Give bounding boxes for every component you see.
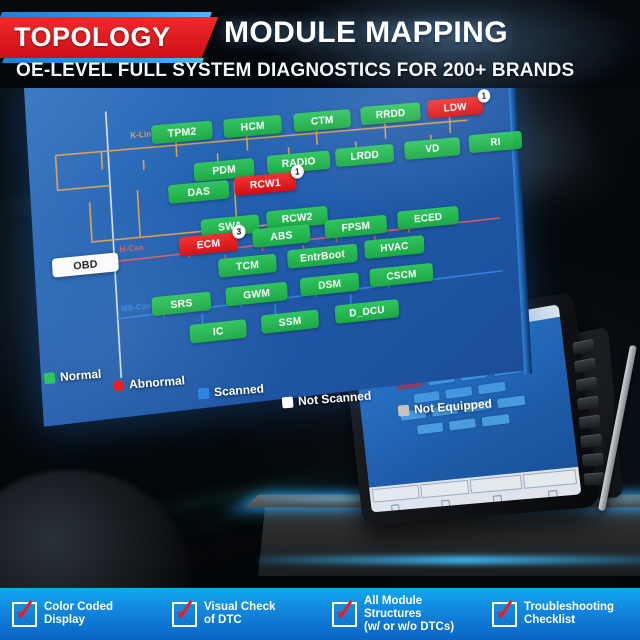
node-label: LDW <box>443 101 466 114</box>
node-label: OBD <box>73 258 98 272</box>
node-label: HCM <box>240 120 265 134</box>
promo-graphic: TOPOLOGY MODULE MAPPING OE-LEVEL FULL SY… <box>0 0 640 640</box>
feature-item-visual-check-of-dtc: Visual Check of DTC <box>160 601 320 627</box>
node-label: IC <box>213 325 224 338</box>
header-badge-label: TOPOLOGY <box>14 19 214 55</box>
node-label: FPSM <box>341 220 370 234</box>
feature-label-line2: Checklist <box>524 614 614 627</box>
node-label: LRDD <box>350 148 379 162</box>
page-subtitle: OE-LEVEL FULL SYSTEM DIAGNOSTICS FOR 200… <box>16 60 574 82</box>
feature-label-line2: Display <box>44 614 113 627</box>
node-label: ABS <box>270 229 293 243</box>
node-label: RRDD <box>375 107 405 121</box>
legend-swatch-not-scanned-icon <box>282 396 294 408</box>
node-label: SRS <box>170 297 193 311</box>
feature-label-line1: Color Coded <box>44 601 113 614</box>
checkmark-icon <box>172 602 197 627</box>
feature-item-troubleshooting-checklist: Troubleshooting Checklist <box>480 601 640 627</box>
node-label: HVAC <box>380 240 409 254</box>
node-label: RCW1 <box>250 177 282 191</box>
node-label: TPM2 <box>167 125 196 139</box>
feature-label-line1: Visual Check <box>204 601 275 614</box>
node-label: ECM <box>196 237 220 251</box>
node-label: DSM <box>318 278 342 292</box>
feature-item-color-coded-display: Color Coded Display <box>0 601 160 627</box>
checkmark-icon <box>12 602 37 627</box>
node-label: GWM <box>243 287 270 301</box>
node-label: D_DCU <box>349 304 385 319</box>
node-label: PDM <box>212 163 236 177</box>
header-banner: TOPOLOGY MODULE MAPPING OE-LEVEL FULL SY… <box>0 0 640 88</box>
feature-item-all-module-structures: All Module Structures (w/ or w/o DTCs) <box>320 595 480 634</box>
legend-swatch-scanned-icon <box>198 387 210 399</box>
node-label: CSCM <box>386 268 417 283</box>
legend-swatch-not-equipped-icon <box>398 404 410 416</box>
feature-label-line2: (w/ or w/o DTCs) <box>364 621 480 634</box>
feature-label-line1: All Module Structures <box>364 595 480 621</box>
feature-label-line1: Troubleshooting <box>524 601 614 614</box>
node-label: VD <box>425 142 440 155</box>
node-label: CTM <box>311 114 334 127</box>
node-label: DAS <box>187 185 210 199</box>
checkmark-icon <box>332 602 357 627</box>
legend-swatch-abnormal-icon <box>113 379 125 391</box>
page-title: MODULE MAPPING <box>224 16 508 50</box>
node-label: RI <box>490 136 501 148</box>
node-label: ECED <box>414 211 443 225</box>
node-label: EntrBoot <box>300 248 345 264</box>
pedestal-glow <box>258 556 640 564</box>
feature-label-line2: of DTC <box>204 614 275 627</box>
node-label: RCW2 <box>281 211 312 226</box>
legend-swatch-normal-icon <box>44 372 56 384</box>
checkmark-icon <box>492 602 517 627</box>
node-label: TCM <box>236 259 260 273</box>
feature-bar: Color Coded Display Visual Check of DTC … <box>0 588 640 640</box>
node-label: SSM <box>278 315 301 329</box>
